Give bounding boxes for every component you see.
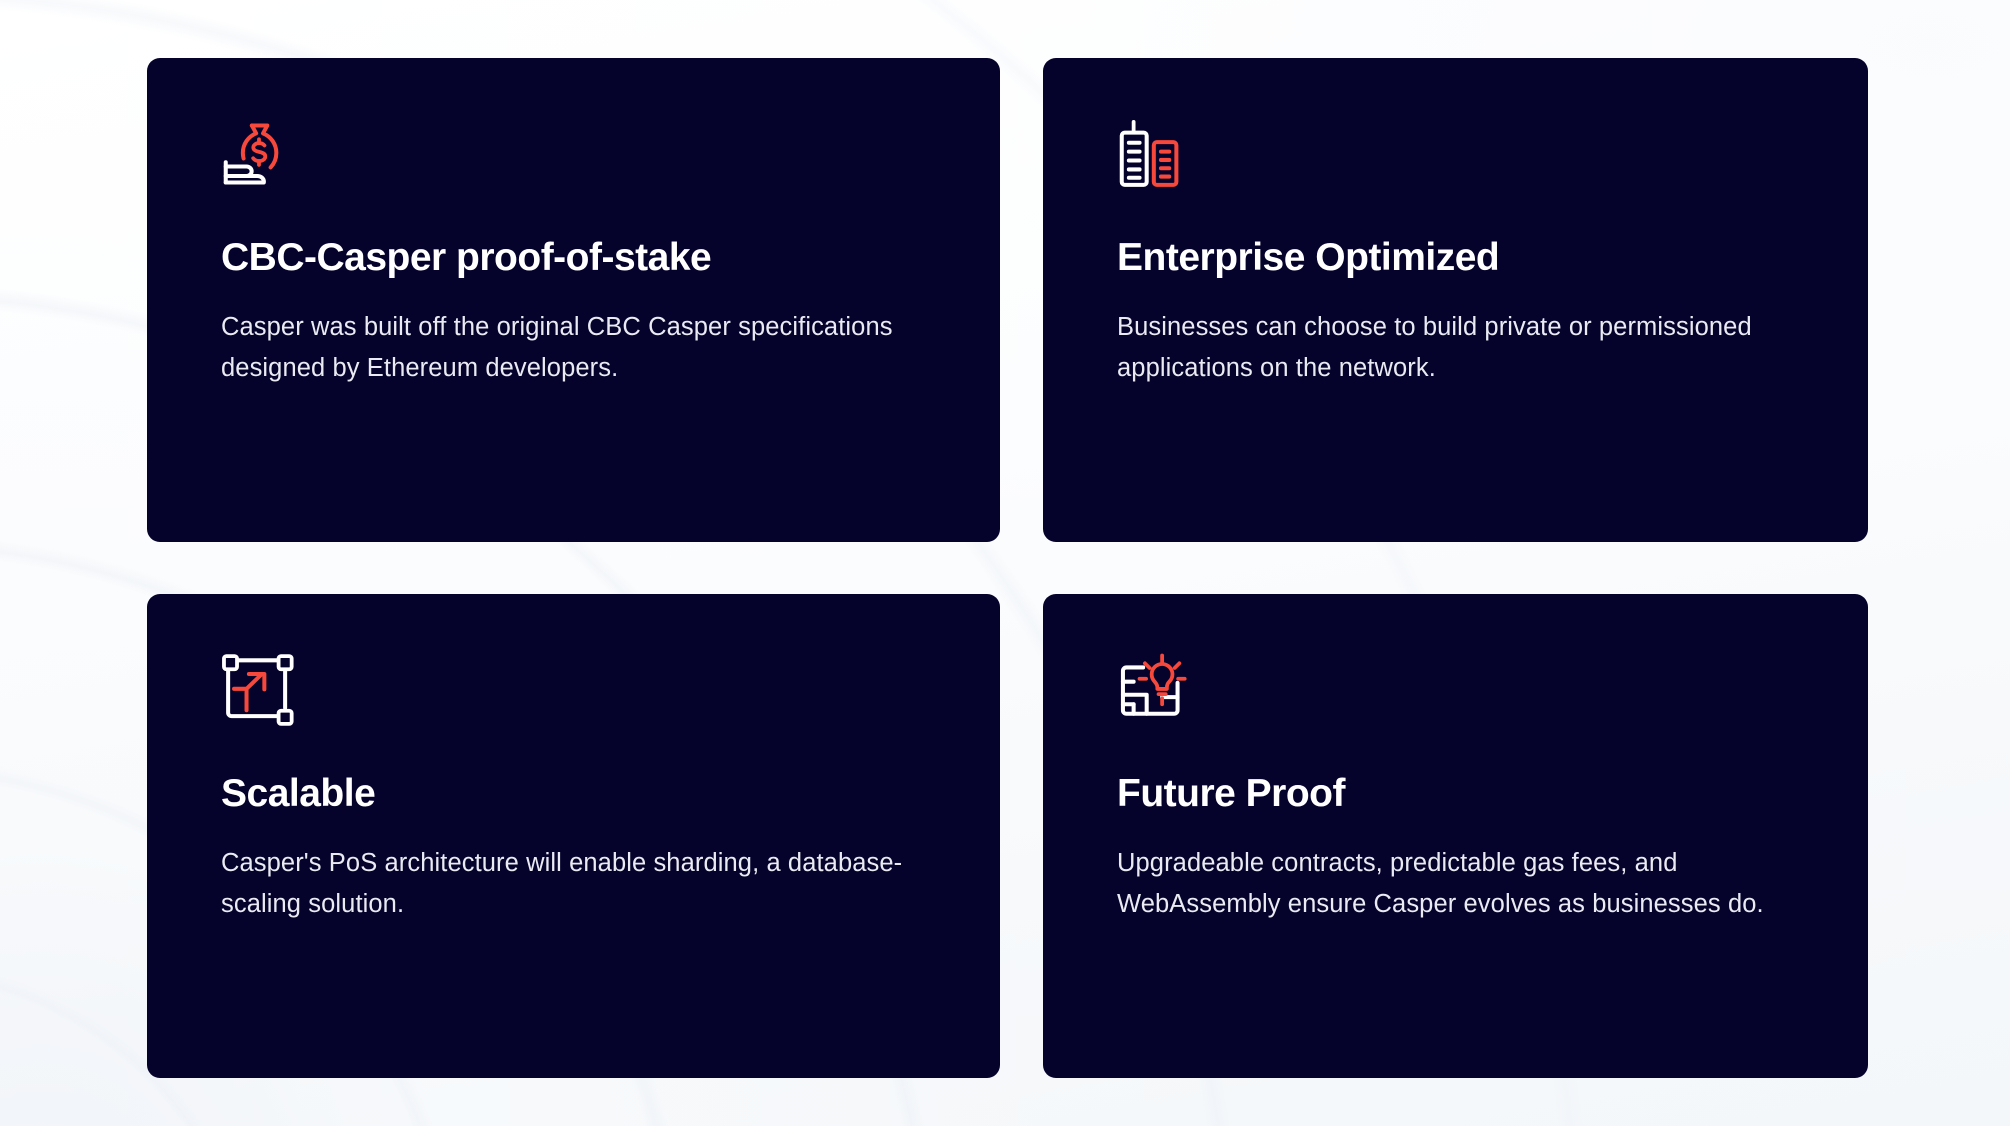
card-title: Enterprise Optimized xyxy=(1117,236,1794,281)
card-title: Future Proof xyxy=(1117,772,1794,817)
feature-card-future-proof[interactable]: Future Proof Upgradeable contracts, pred… xyxy=(1043,594,1868,1078)
money-bag-hand-icon xyxy=(221,116,297,192)
card-description: Casper's PoS architecture will enable sh… xyxy=(221,843,921,926)
card-description: Upgradeable contracts, predictable gas f… xyxy=(1117,843,1789,926)
feature-card-grid: CBC-Casper proof-of-stake Casper was bui… xyxy=(147,58,1868,1078)
feature-card-cbc-casper[interactable]: CBC-Casper proof-of-stake Casper was bui… xyxy=(147,58,1000,542)
card-title: Scalable xyxy=(221,772,926,817)
lightbulb-blueprint-icon xyxy=(1117,652,1193,728)
card-description: Casper was built off the original CBC Ca… xyxy=(221,307,921,390)
office-buildings-icon xyxy=(1117,116,1193,192)
scalable-resize-arrow-icon xyxy=(221,652,297,728)
feature-card-scalable[interactable]: Scalable Casper's PoS architecture will … xyxy=(147,594,1000,1078)
card-title: CBC-Casper proof-of-stake xyxy=(221,236,926,281)
card-description: Businesses can choose to build private o… xyxy=(1117,307,1777,390)
feature-card-enterprise-optimized[interactable]: Enterprise Optimized Businesses can choo… xyxy=(1043,58,1868,542)
